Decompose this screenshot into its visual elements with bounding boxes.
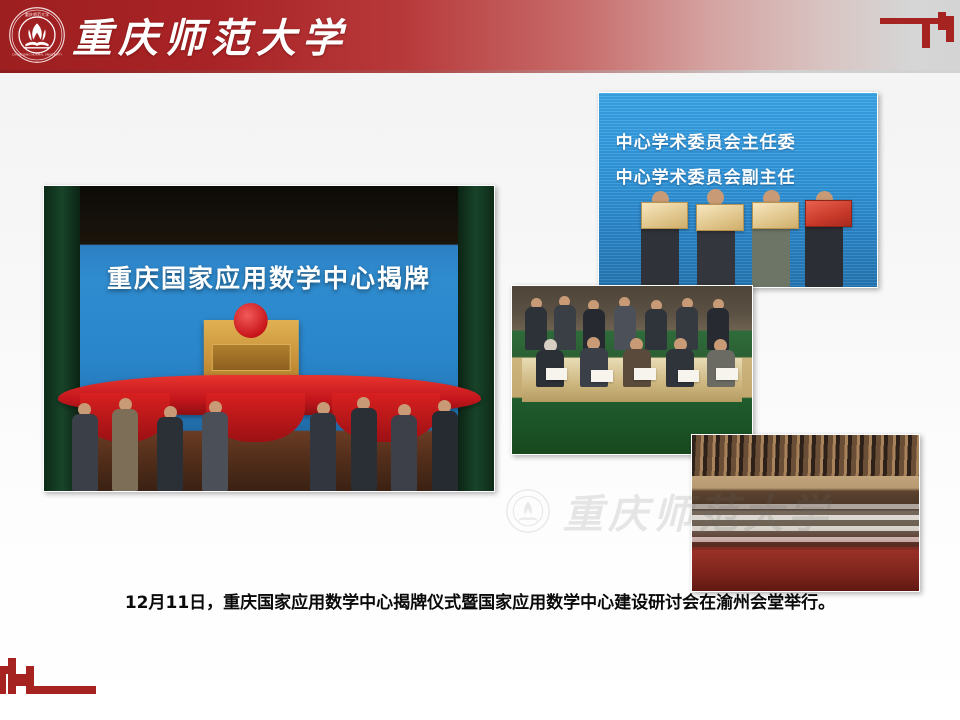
stage-banner-text: 重庆国家应用数学中心揭牌 bbox=[71, 259, 467, 295]
hall-ceiling bbox=[692, 435, 919, 476]
certificate bbox=[641, 202, 688, 229]
certificate bbox=[752, 202, 799, 229]
signing-document bbox=[634, 368, 656, 380]
red-rosette-icon bbox=[234, 303, 268, 338]
photo-conference-hall bbox=[691, 434, 920, 592]
led-screen-line-1: 中心学术委员会主任委 bbox=[616, 128, 872, 153]
photo-unveiling-ceremony: 重庆国家应用数学中心揭牌 bbox=[43, 185, 495, 492]
svg-text:重庆师范大学: 重庆师范大学 bbox=[25, 11, 49, 17]
plaque-plate bbox=[211, 344, 290, 372]
slide-root: 重庆师范大学 CHONGQING NORMAL UNIVERSITY 重庆师范大… bbox=[0, 0, 960, 720]
hall-carpet bbox=[692, 550, 919, 591]
slide-caption: 12月11日，重庆国家应用数学中心揭牌仪式暨国家应用数学中心建设研讨会在渝州会堂… bbox=[0, 588, 960, 613]
ceremony-participants bbox=[44, 369, 494, 491]
corner-ornament-icon-bottom-left bbox=[0, 652, 110, 700]
photo-award-presentation: 中心学术委员会主任委 中心学术委员会副主任 bbox=[598, 92, 878, 288]
page-title: 重庆师范大学 bbox=[72, 6, 348, 64]
signing-document bbox=[678, 370, 700, 382]
svg-text:CHONGQING NORMAL UNIVERSITY: CHONGQING NORMAL UNIVERSITY bbox=[12, 52, 62, 56]
footer-rule bbox=[0, 716, 960, 720]
certificate bbox=[696, 204, 743, 231]
hall-seating-rows bbox=[692, 504, 919, 548]
signing-document bbox=[716, 368, 738, 380]
university-seal-icon bbox=[505, 488, 551, 534]
award-recipients bbox=[599, 178, 877, 287]
signing-document bbox=[591, 370, 613, 382]
corner-ornament-icon-top-right bbox=[860, 10, 960, 52]
header-divider bbox=[0, 70, 960, 73]
photo-signing-ceremony bbox=[511, 285, 753, 455]
university-seal-icon: 重庆师范大学 CHONGQING NORMAL UNIVERSITY bbox=[8, 6, 66, 64]
signing-document bbox=[546, 368, 568, 380]
page-header: 重庆师范大学 CHONGQING NORMAL UNIVERSITY 重庆师范大… bbox=[0, 0, 960, 70]
certificate bbox=[805, 200, 852, 227]
